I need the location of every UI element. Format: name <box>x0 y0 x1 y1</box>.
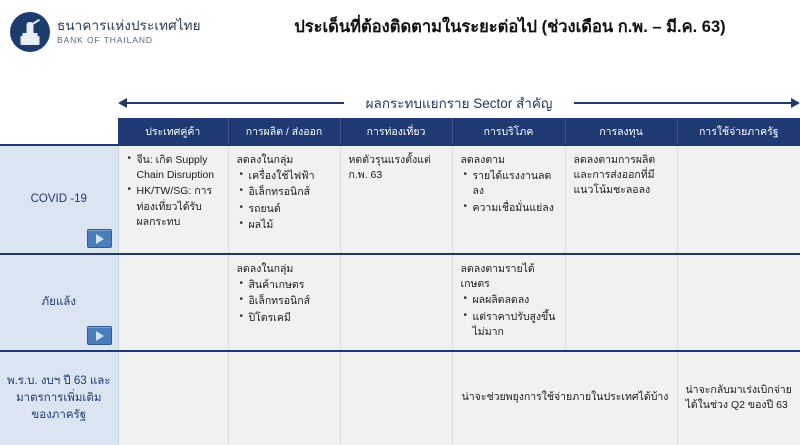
cell-text: น่าจะช่วยพยุงการใช้จ่ายภายในประเทศได้บ้า… <box>462 391 669 403</box>
impact-matrix: ประเทศคู่ค้า การผลิต / ส่งออก การท่องเที… <box>0 118 800 445</box>
column-header-blank <box>0 118 118 145</box>
row-label-text: พ.ร.บ. งบฯ ปี 63 และมาตรการเพิ่มเติมของภ… <box>7 375 111 422</box>
slide-header: ธนาคารแห่งประเทศไทย BANK OF THAILAND ประ… <box>0 0 800 78</box>
bullet-list: รายได้แรงงานลดลง ความเชื่อมั่นแย่ลง <box>461 169 558 216</box>
brand-name-en: BANK OF THAILAND <box>57 36 201 45</box>
column-header-production-export: การผลิต / ส่งออก <box>228 118 340 145</box>
list-item: รถยนต์ <box>237 202 333 217</box>
list-item: ปิโตรเคมี <box>237 311 333 326</box>
cell-text: น่าจะกลับมาเร่งเบิกจ่ายได้ในช่วง Q2 ของป… <box>686 383 794 413</box>
column-header-investment: การลงทุน <box>565 118 677 145</box>
table-row: COVID -19 จีน: เกิด Supply Chain Disrupt… <box>0 145 800 254</box>
cell-budget-production-export <box>228 351 340 445</box>
row-label-budget-act: พ.ร.บ. งบฯ ปี 63 และมาตรการเพิ่มเติมของภ… <box>0 351 118 445</box>
cell-lead-text: ลดลงในกลุ่ม <box>237 262 333 277</box>
brand-wordmark: ธนาคารแห่งประเทศไทย BANK OF THAILAND <box>57 19 201 44</box>
brand-name-th: ธนาคารแห่งประเทศไทย <box>57 19 201 33</box>
cell-drought-government-spending <box>677 254 800 351</box>
column-header-consumption: การบริโภค <box>452 118 565 145</box>
arrow-right-icon <box>574 98 800 108</box>
arrow-left-icon <box>118 98 344 108</box>
list-item: แต่ราคาปรับสูงขึ้นไม่มาก <box>461 310 558 340</box>
list-item: รายได้แรงงานลดลง <box>461 169 558 199</box>
column-header-tourism: การท่องเที่ยว <box>340 118 452 145</box>
bot-emblem-icon <box>10 12 50 52</box>
cell-text: หดตัวรุนแรงตั้งแต่ ก.พ. 63 <box>349 153 445 183</box>
column-header-government-spending: การใช้จ่ายภาครัฐ <box>677 118 800 145</box>
bullet-list: เครื่องใช้ไฟฟ้า อิเล็กทรอนิกส์ รถยนต์ ผล… <box>237 169 333 233</box>
table-row: ภัยแล้ง ลดลงในกลุ่ม สินค้าเกษตร อิเล็กทร… <box>0 254 800 351</box>
cell-lead-text: ลดลงตาม <box>461 153 558 168</box>
cell-covid19-investment: ลดลงตามการผลิตและการส่งออกที่มีแนวโน้มชะ… <box>565 145 677 254</box>
cell-drought-investment <box>565 254 677 351</box>
cell-budget-consumption-investment: น่าจะช่วยพยุงการใช้จ่ายภายในประเทศได้บ้า… <box>452 351 677 445</box>
cell-budget-trade-partners <box>118 351 228 445</box>
row-label-text: ภัยแล้ง <box>42 296 76 308</box>
list-item: เครื่องใช้ไฟฟ้า <box>237 169 333 184</box>
cell-drought-trade-partners <box>118 254 228 351</box>
impact-matrix-table: ประเทศคู่ค้า การผลิต / ส่งออก การท่องเที… <box>0 118 800 445</box>
sector-scope-band: ผลกระทบแยกราย Sector สำคัญ <box>118 90 800 116</box>
cell-drought-consumption: ลดลงตามรายได้เกษตร ผลผลิตลดลง แต่ราคาปรั… <box>452 254 565 351</box>
cell-budget-tourism <box>340 351 452 445</box>
list-item: ความเชื่อมั่นแย่ลง <box>461 201 558 216</box>
row-label-text: COVID -19 <box>31 193 87 205</box>
list-item: อิเล็กทรอนิกส์ <box>237 185 333 200</box>
cell-covid19-tourism: หดตัวรุนแรงตั้งแต่ ก.พ. 63 <box>340 145 452 254</box>
cell-covid19-trade-partners: จีน: เกิด Supply Chain Disruption HK/TW/… <box>118 145 228 254</box>
column-header-trade-partners: ประเทศคู่ค้า <box>118 118 228 145</box>
list-item: HK/TW/SG: การท่องเที่ยวได้รับผลกระทบ <box>127 184 221 230</box>
play-button-covid19[interactable] <box>87 229 112 248</box>
cell-text: ลดลงตามการผลิตและการส่งออกที่มีแนวโน้มชะ… <box>574 153 670 199</box>
table-header-row: ประเทศคู่ค้า การผลิต / ส่งออก การท่องเที… <box>0 118 800 145</box>
row-label-drought: ภัยแล้ง <box>0 254 118 351</box>
play-button-drought[interactable] <box>87 326 112 345</box>
page-title: ประเด็นที่ต้องติดตามในระยะต่อไป (ช่วงเดื… <box>230 14 790 40</box>
cell-lead-text: ลดลงตามรายได้เกษตร <box>461 262 558 292</box>
row-label-covid19: COVID -19 <box>0 145 118 254</box>
cell-lead-text: ลดลงในกลุ่ม <box>237 153 333 168</box>
cell-covid19-consumption: ลดลงตาม รายได้แรงงานลดลง ความเชื่อมั่นแย… <box>452 145 565 254</box>
cell-drought-production-export: ลดลงในกลุ่ม สินค้าเกษตร อิเล็กทรอนิกส์ ป… <box>228 254 340 351</box>
sector-band-caption: ผลกระทบแยกราย Sector สำคัญ <box>352 92 567 114</box>
cell-drought-tourism <box>340 254 452 351</box>
table-row: พ.ร.บ. งบฯ ปี 63 และมาตรการเพิ่มเติมของภ… <box>0 351 800 445</box>
list-item: สินค้าเกษตร <box>237 278 333 293</box>
bullet-list: ผลผลิตลดลง แต่ราคาปรับสูงขึ้นไม่มาก <box>461 293 558 340</box>
cell-covid19-production-export: ลดลงในกลุ่ม เครื่องใช้ไฟฟ้า อิเล็กทรอนิก… <box>228 145 340 254</box>
bank-of-thailand-logo: ธนาคารแห่งประเทศไทย BANK OF THAILAND <box>10 12 201 52</box>
cell-budget-government-spending: น่าจะกลับมาเร่งเบิกจ่ายได้ในช่วง Q2 ของป… <box>677 351 800 445</box>
bullet-list: จีน: เกิด Supply Chain Disruption HK/TW/… <box>127 153 221 230</box>
list-item: ผลผลิตลดลง <box>461 293 558 308</box>
list-item: ผลไม้ <box>237 218 333 233</box>
list-item: อิเล็กทรอนิกส์ <box>237 294 333 309</box>
bullet-list: สินค้าเกษตร อิเล็กทรอนิกส์ ปิโตรเคมี <box>237 278 333 326</box>
list-item: จีน: เกิด Supply Chain Disruption <box>127 153 221 183</box>
cell-covid19-government-spending <box>677 145 800 254</box>
